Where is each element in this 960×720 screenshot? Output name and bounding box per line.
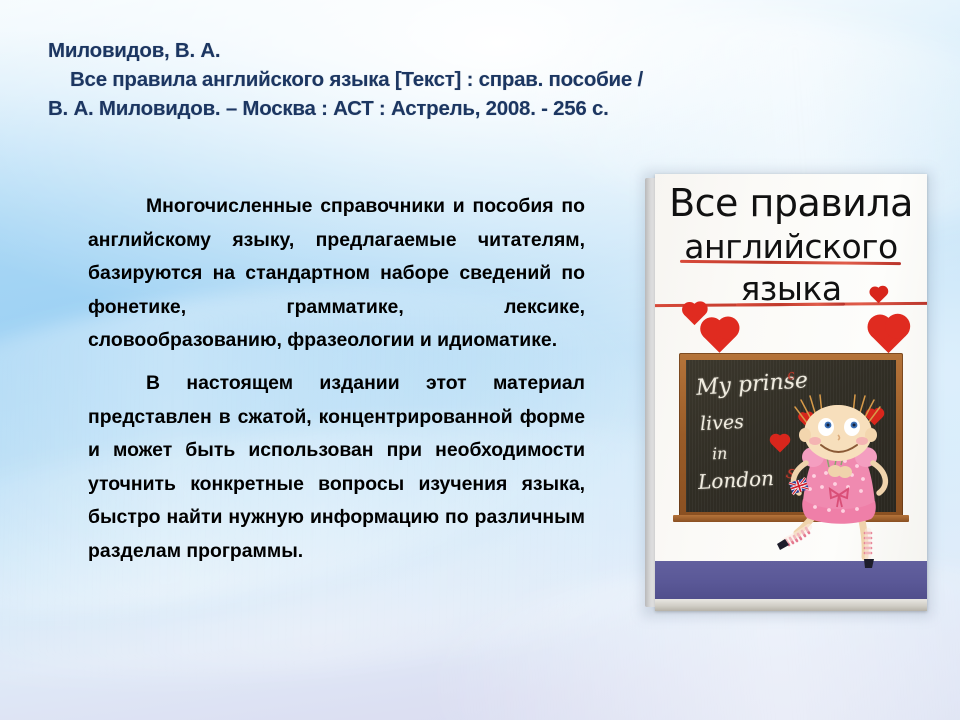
annotation-paragraph-2-text: В настоящем издании этот материал предст… [88,372,585,562]
book-front-face: Все правила английского языка My prinse … [655,174,927,611]
chalk-text-line-2: lives s [699,411,744,435]
cover-title-line-1: Все правила [669,180,913,226]
chalk-text-line-4: London [697,466,774,494]
chalk-text-line-3: in [712,444,728,464]
heart-icon [871,318,906,353]
girl-illustration-svg [773,379,913,579]
cover-bottom-edge [655,599,927,611]
citation-imprint: В. А. Миловидов. – Москва : АСТ : Астрел… [48,94,848,123]
bibliographic-citation: Миловидов, В. А. Все правила английского… [48,36,848,123]
book-cover-image: Все правила английского языка My prinse … [645,174,927,611]
chalk-line-2-text: lives [699,411,744,435]
annotation-paragraph-2: В настоящем издании этот материал предст… [88,367,585,569]
annotation-paragraph-1-text: Многочисленные справочники и пособия по … [88,195,585,351]
citation-title: Все правила английского языка [Текст] : … [48,65,848,94]
slide-canvas: Миловидов, В. А. Все правила английского… [0,0,960,720]
annotation-paragraph-1: Многочисленные справочники и пособия по … [88,190,585,358]
heart-icon [703,320,736,353]
girl-illustration [773,379,913,579]
citation-author: Миловидов, В. А. [48,36,848,65]
annotation-text: Многочисленные справочники и пособия по … [88,190,585,569]
